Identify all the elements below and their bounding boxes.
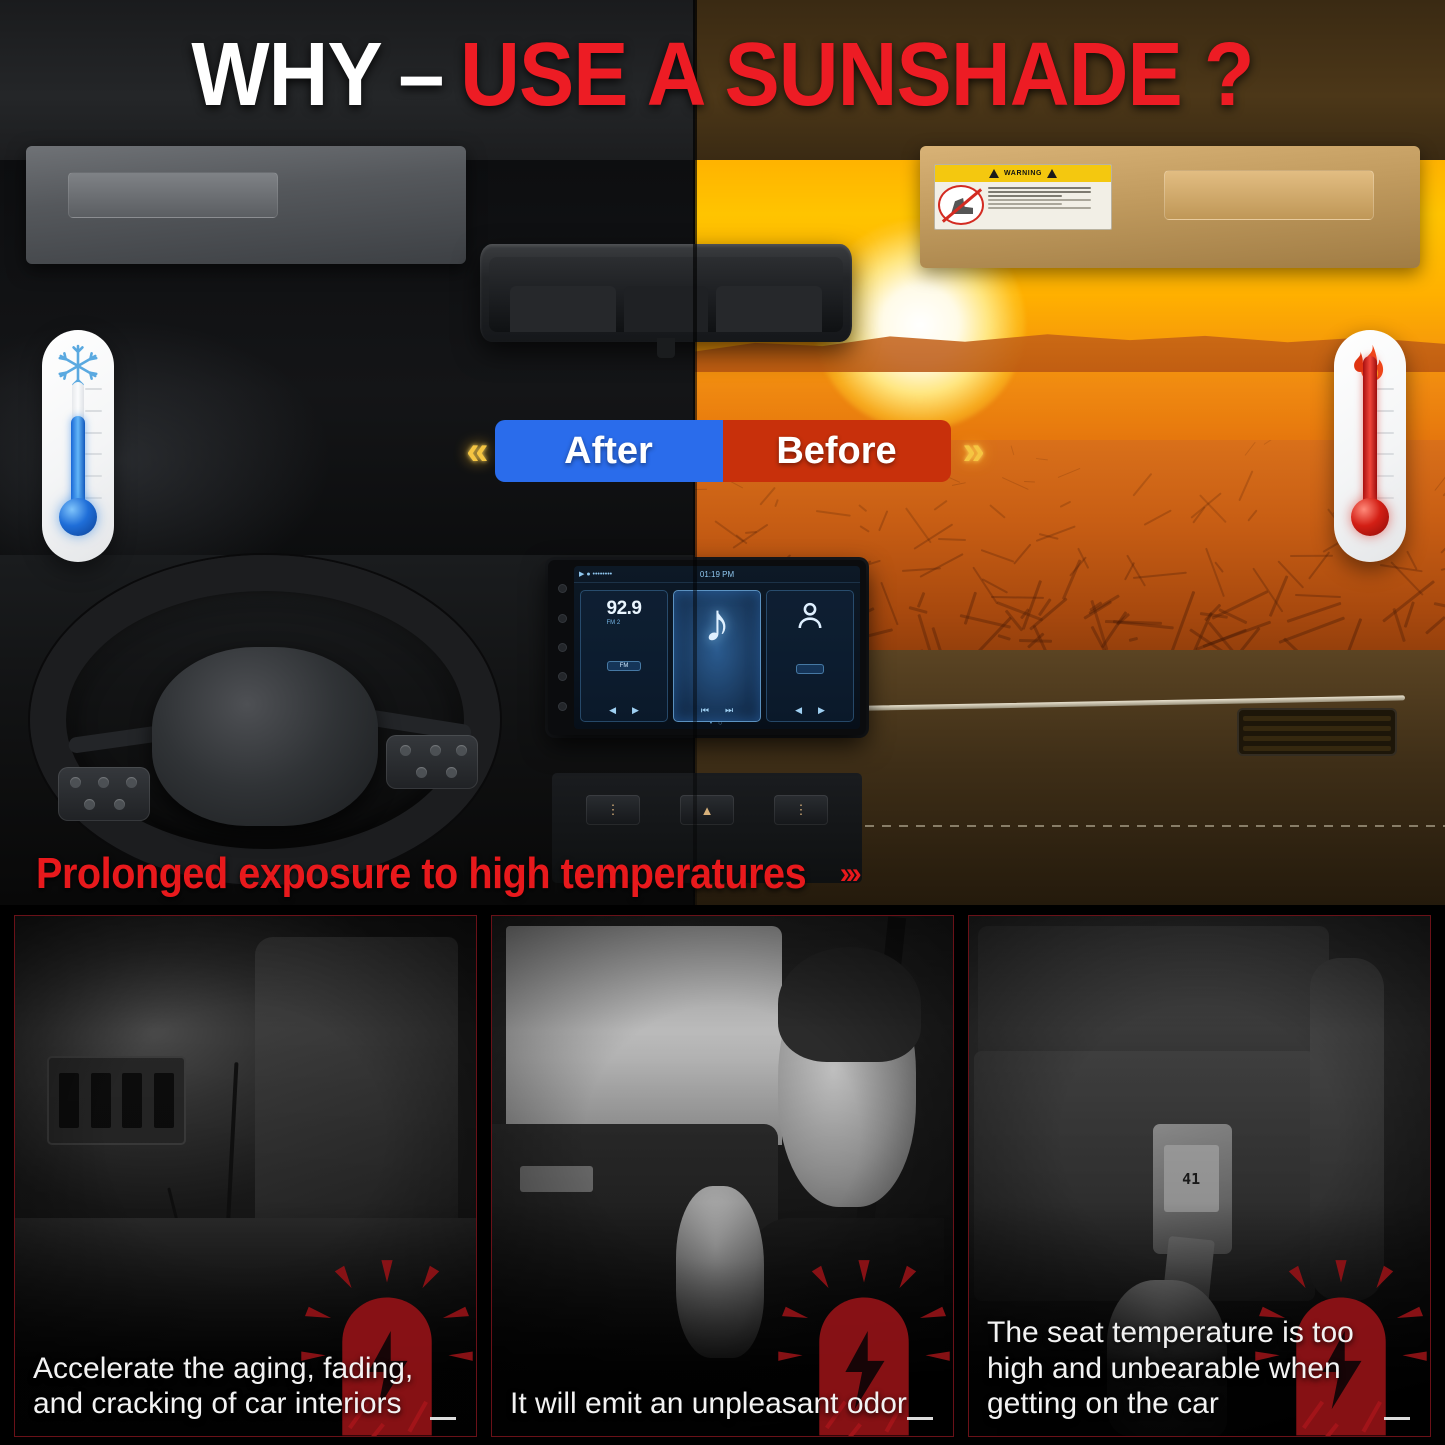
head-unit-side-buttons[interactable] (554, 574, 571, 721)
desert-crack (997, 634, 1010, 640)
warning-triangle-icon-2 (1047, 169, 1057, 178)
desert-crack (1440, 567, 1445, 572)
no-rear-facing-child-seat-icon (938, 185, 984, 225)
title-word-why: WHY (191, 24, 381, 127)
sun-visor-right: WARNING (920, 146, 1420, 268)
dashboard-air-vent (1237, 708, 1397, 756)
infotainment-status-bar: ▶ ● •••••••• 01:19 PM (574, 566, 860, 583)
desert-crack (1248, 510, 1258, 522)
hot-thermometer-bulb (1351, 498, 1389, 536)
desert-crack (1295, 594, 1341, 598)
radio-next-icon[interactable]: ▶ (632, 705, 639, 716)
media-next-icon[interactable]: ⏭ (725, 705, 733, 716)
desert-crack (1440, 526, 1445, 554)
chevron-right-icon: » (963, 431, 979, 471)
hazard-lights-button[interactable]: ▲ (680, 795, 734, 825)
desert-crack (859, 504, 868, 512)
profile-prev-icon[interactable]: ◀ (795, 705, 802, 716)
radio-prev-icon[interactable]: ◀ (609, 705, 616, 716)
warning-triangle-icon (989, 169, 999, 178)
airbag-warning-label: WARNING (934, 164, 1112, 230)
warning-label-text: WARNING (1004, 170, 1042, 177)
desert-crack (774, 499, 778, 507)
media-controls[interactable]: ⏮ ⏭ (701, 705, 733, 716)
panel-caption-text-3: The seat temperature is too high and unb… (987, 1316, 1354, 1420)
person-icon (793, 599, 827, 633)
tile-profile[interactable]: ◀ ▶ (766, 590, 854, 722)
desert-crack (1128, 637, 1137, 642)
tile-media[interactable]: ♪ ⏮ ⏭ (673, 590, 761, 722)
before-after-badges: « After Before » (0, 415, 1445, 487)
panel-caption-2: It will emit an unpleasant odor (510, 1386, 939, 1422)
cold-thermometer-fill (71, 416, 85, 508)
desert-crack (1133, 572, 1187, 580)
hot-thermometer-fill (1363, 356, 1377, 508)
head-unit-button-volume[interactable] (558, 643, 567, 652)
desert-crack (1425, 616, 1445, 634)
panel-caption-3: The seat temperature is too high and unb… (987, 1315, 1416, 1422)
desert-crack (918, 614, 932, 654)
reflected-seat-right (716, 286, 822, 333)
desert-crack (917, 592, 925, 607)
desert-crack (879, 510, 889, 531)
seat-heater-right-button[interactable]: ⋮ (774, 795, 828, 825)
infotainment-tiles: 92.9 FM 2 FM ◀ ▶ ♪ ⏮ ⏭ (574, 583, 860, 729)
mirror-stalk (657, 338, 675, 358)
visor-mirror-lid-right (1164, 170, 1374, 220)
infotainment-head-unit[interactable]: ▶ ● •••••••• 01:19 PM 92.9 FM 2 FM ◀ ▶ (548, 560, 866, 735)
panel-seat-temperature: 41 The seat temperature is too high and … (968, 915, 1431, 1437)
console-switch-row[interactable]: ⋮ ▲ ⋮ (566, 793, 848, 827)
warning-label-textlines (988, 185, 1108, 226)
panel-caption-1: Accelerate the aging, fading, and cracki… (33, 1351, 462, 1422)
rearview-mirror (480, 244, 852, 342)
desert-crack (981, 549, 1015, 563)
title-dash: – (382, 24, 460, 127)
child-seat-glyph (951, 198, 973, 214)
panel-odor: It will emit an unpleasant odor (491, 915, 954, 1437)
profile-next-icon[interactable]: ▶ (818, 705, 825, 716)
infotainment-clock: 01:19 PM (700, 570, 734, 579)
radio-band: FM 2 (607, 620, 642, 626)
consequence-panels: Accelerate the aging, fading, and cracki… (0, 905, 1445, 1445)
desert-crack (934, 500, 948, 511)
sun-visor-left (26, 146, 466, 264)
panel-aging: Accelerate the aging, fading, and cracki… (14, 915, 477, 1437)
cold-thermometer-bulb (59, 498, 97, 536)
desert-crack (1143, 509, 1171, 525)
desert-crack (816, 510, 851, 516)
desert-crack (1434, 602, 1445, 613)
after-badge: After (495, 420, 723, 482)
desert-crack (1171, 591, 1196, 652)
infotainment-source-label: ▶ ● •••••••• (579, 570, 612, 578)
desert-crack (938, 538, 966, 541)
desert-crack (1406, 550, 1418, 570)
desert-crack (1059, 501, 1071, 508)
airbag-hub (152, 647, 378, 825)
subheading-arrows-icon: ››› (840, 857, 858, 891)
before-badge: Before (723, 420, 951, 482)
head-unit-button-power[interactable] (558, 584, 567, 593)
cold-thermometer (42, 330, 114, 562)
page-title: WHY – USE A SUNSHADE ? (58, 0, 1387, 150)
desert-crack (905, 508, 932, 544)
radio-preset-chip[interactable]: FM (607, 661, 642, 671)
caption-underline-1 (430, 1417, 456, 1420)
panel-caption-text-2: It will emit an unpleasant odor (510, 1387, 907, 1420)
infotainment-lcd: ▶ ● •••••••• 01:19 PM 92.9 FM 2 FM ◀ ▶ (574, 566, 860, 729)
radio-frequency: 92.9 (607, 599, 642, 618)
title-word-red: USE A SUNSHADE ? (460, 24, 1253, 127)
head-unit-button-back[interactable] (558, 702, 567, 711)
caption-underline-2 (907, 1417, 933, 1420)
desert-crack (695, 489, 707, 491)
chevron-left-icon: « (466, 431, 482, 471)
head-unit-button-menu[interactable] (558, 614, 567, 623)
profile-chip[interactable] (796, 664, 824, 674)
seat-heater-left-button[interactable]: ⋮ (586, 795, 640, 825)
rearview-mirror-glass (489, 257, 843, 332)
desert-crack (759, 487, 775, 506)
visor-mirror-lid-left (68, 172, 278, 218)
desert-crack (919, 553, 963, 578)
steering-buttons-right (386, 735, 478, 789)
desert-crack (879, 582, 898, 626)
infotainment-page-dots[interactable]: • ○ (574, 720, 860, 727)
desert-crack (989, 504, 1005, 518)
hot-thermometer (1334, 330, 1406, 562)
steering-wheel (30, 555, 500, 885)
warning-label-body (935, 182, 1111, 229)
head-unit-button-home[interactable] (558, 672, 567, 681)
steering-buttons-left (58, 767, 150, 821)
desert-crack (1062, 559, 1081, 599)
caption-underline-3 (1384, 1417, 1410, 1420)
media-prev-icon[interactable]: ⏮ (701, 705, 709, 716)
subheading-text: Prolonged exposure to high temperatures (36, 849, 806, 899)
panel-vignette-2 (492, 916, 953, 1436)
desert-crack (1390, 561, 1423, 595)
radio-controls[interactable]: ◀ ▶ (609, 705, 639, 716)
desert-crack (1013, 543, 1032, 565)
music-note-icon: ♪ (704, 599, 731, 648)
warning-label-header: WARNING (935, 165, 1111, 182)
desert-crack (860, 525, 870, 532)
reflected-seat-left (510, 286, 616, 333)
panel-caption-text-1: Accelerate the aging, fading, and cracki… (33, 1352, 413, 1421)
subheading: Prolonged exposure to high temperatures … (0, 838, 1445, 910)
tile-radio[interactable]: 92.9 FM 2 FM ◀ ▶ (580, 590, 668, 722)
profile-controls[interactable]: ◀ ▶ (795, 705, 825, 716)
